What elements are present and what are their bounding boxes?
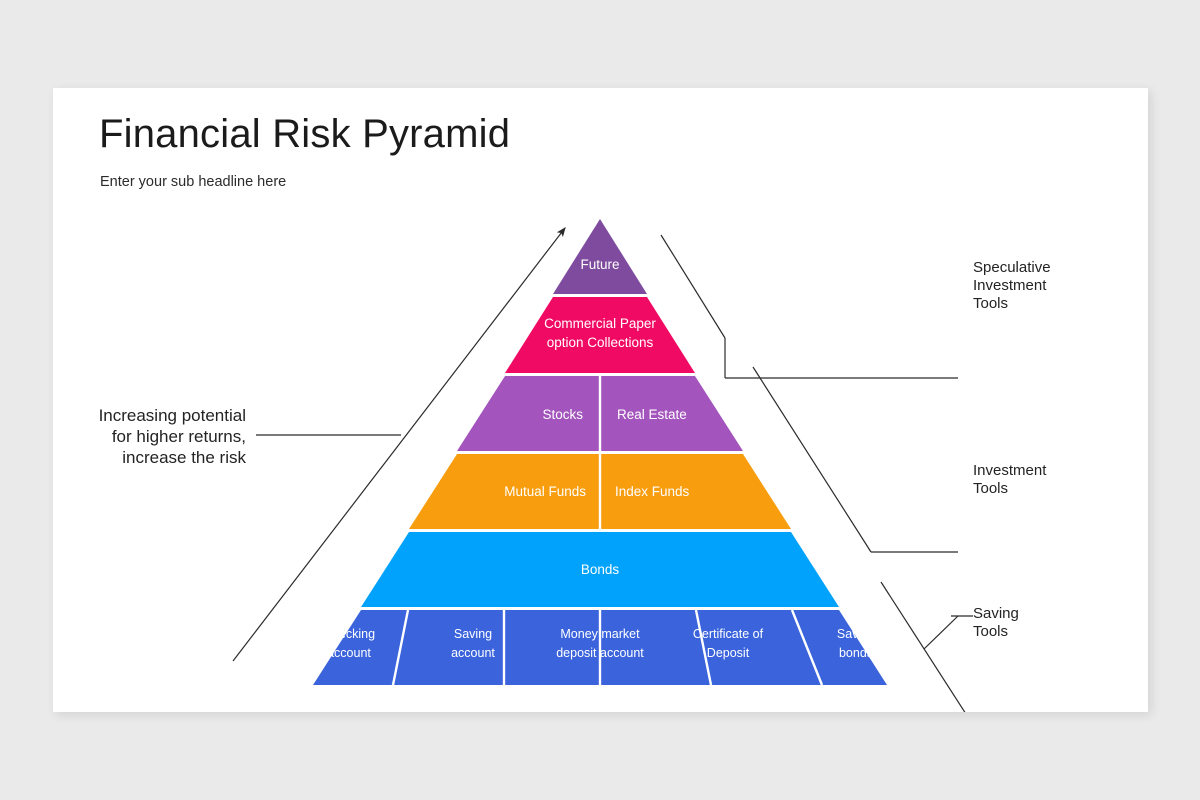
tier-stocks-realestate[interactable]: Stocks Real Estate: [457, 376, 743, 451]
saving-line2: Tools: [973, 623, 1008, 640]
tier-cell-index-funds-label: Index Funds: [615, 484, 690, 499]
saving-line1: Saving: [973, 605, 1019, 622]
tier-cell-mutual-funds-label: Mutual Funds: [504, 484, 586, 499]
saving-cell-saving-line2: account: [451, 646, 495, 660]
right-annotation-investment: Investment Tools: [973, 462, 1047, 497]
saving-cell-money-market-line2: deposit account: [556, 646, 644, 660]
right-annotation-speculative: Speculative Investment Tools: [973, 259, 1051, 312]
saving-cell-checking-line2: account: [327, 646, 371, 660]
saving-leader-line-diagonal: [924, 616, 958, 649]
tier-commercial-paper-label-line2: option Collections: [547, 335, 654, 350]
left-annotation-line3: increase the risk: [122, 448, 246, 467]
saving-cell-saving-line1: Saving: [454, 627, 492, 641]
tier-cell-stocks-label: Stocks: [542, 407, 583, 422]
right-edge-segment-3: [881, 582, 975, 712]
saving-cell-saving-bonds-line1: Saving: [837, 627, 875, 641]
financial-risk-pyramid-diagram: Future Commercial Paper option Collectio…: [53, 88, 1148, 712]
speculative-line3: Tools: [973, 295, 1008, 312]
saving-cell-cd-line2: Deposit: [707, 646, 750, 660]
saving-cell-saving-bonds-line2: bonds: [839, 646, 873, 660]
saving-cell-money-market-line1: Money market: [560, 627, 640, 641]
tier-commercial-paper[interactable]: Commercial Paper option Collections: [505, 297, 695, 373]
investment-line2: Tools: [973, 480, 1008, 497]
tier-saving-accounts[interactable]: Checking account Saving account Money ma…: [313, 610, 887, 685]
tier-funds[interactable]: Mutual Funds Index Funds: [409, 454, 791, 529]
speculative-line1: Speculative: [973, 259, 1051, 276]
slide-card: Financial Risk Pyramid Enter your sub he…: [53, 88, 1148, 712]
tier-future[interactable]: Future: [553, 219, 647, 294]
tier-cell-real-estate-label: Real Estate: [617, 407, 687, 422]
right-annotation-saving: Saving Tools: [973, 605, 1019, 640]
left-annotation-line1: Increasing potential: [99, 406, 246, 425]
saving-cell-cd-line1: Certificate of: [693, 627, 764, 641]
left-annotation-line2: for higher returns,: [112, 427, 246, 446]
saving-cell-checking-line1: Checking: [323, 627, 375, 641]
left-annotation: Increasing potential for higher returns,…: [99, 406, 247, 467]
tier-commercial-paper-label-line1: Commercial Paper: [544, 316, 656, 331]
tier-future-label: Future: [580, 257, 619, 272]
right-edge-segment-1: [661, 235, 725, 338]
tier-bonds[interactable]: Bonds: [361, 532, 839, 607]
speculative-line2: Investment: [973, 277, 1047, 294]
investment-line1: Investment: [973, 462, 1047, 479]
tier-bonds-label: Bonds: [581, 562, 620, 577]
